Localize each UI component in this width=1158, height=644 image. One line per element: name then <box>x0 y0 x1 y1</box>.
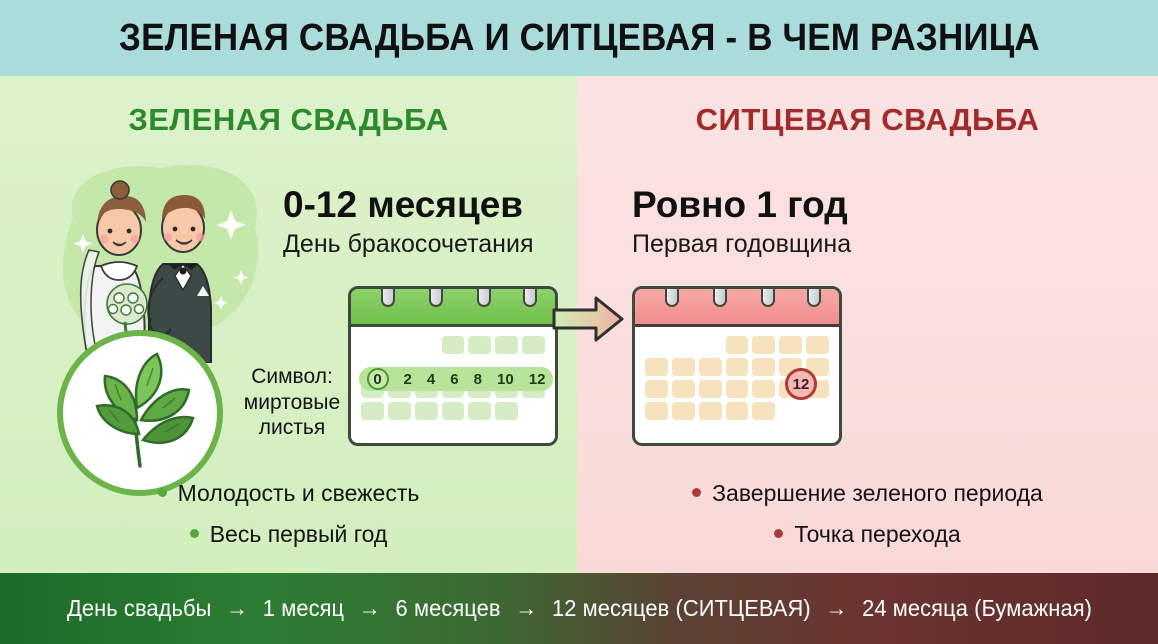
green-calendar: 0 2 4 6 8 10 12 <box>348 286 558 446</box>
bullet-dot-icon <box>774 529 783 538</box>
left-column-title: ЗЕЛЕНАЯ СВАДЬБА <box>0 102 577 138</box>
calendar-grid-green: 0 2 4 6 8 10 12 <box>351 327 555 428</box>
calendar-grid-pink: 12 <box>635 327 839 428</box>
arrow-icon: → <box>515 595 537 621</box>
timeline-step: 6 месяцев <box>395 595 500 621</box>
right-arrow-icon <box>552 294 624 344</box>
timeline-step: 24 месяца (Бумажная) <box>862 595 1092 621</box>
left-symbol-line1: Символ: <box>228 364 356 390</box>
calendar-rings-green <box>351 286 558 307</box>
right-column-title: СИТЦЕВАЯ СВАДЬБА <box>577 102 1158 138</box>
right-headline: Ровно 1 год <box>632 184 851 226</box>
calendar-highlight-row: 0 2 4 6 8 10 12 <box>359 367 553 391</box>
calendar-number: 8 <box>474 371 482 388</box>
myrtle-leaves-icon <box>57 330 223 496</box>
list-item: Завершение зеленого периода <box>577 480 1158 507</box>
right-panel: СИТЦЕВАЯ СВАДЬБА <box>577 76 1158 573</box>
list-item: Точка перехода <box>577 521 1158 548</box>
left-bullet-text: Молодость и свежесть <box>178 480 420 506</box>
bullet-dot-icon <box>692 488 701 497</box>
left-bullet-text: Весь первый год <box>210 521 388 547</box>
calendar-number: 4 <box>427 371 435 388</box>
arrow-icon: → <box>358 595 380 621</box>
calendar-circled-number-green: 0 <box>367 368 389 390</box>
page-header: ЗЕЛЕНАЯ СВАДЬБА И СИТЦЕВАЯ - В ЧЕМ РАЗНИ… <box>0 0 1158 76</box>
body-area: ЗЕЛЕНАЯ СВАДЬБА <box>0 76 1158 573</box>
timeline-step: 12 месяцев (СИТЦЕВАЯ) <box>551 595 810 621</box>
arrow-icon: → <box>226 595 248 621</box>
bullet-dot-icon <box>190 529 199 538</box>
left-symbol-line2: миртовые <box>228 390 356 416</box>
list-item: Весь первый год <box>0 521 577 548</box>
calendar-number: 6 <box>450 371 458 388</box>
left-symbol-line3: листья <box>228 415 356 441</box>
bullet-dot-icon <box>158 488 167 497</box>
calendar-number: 10 <box>497 371 514 388</box>
list-item: Молодость и свежесть <box>0 480 577 507</box>
page-title: ЗЕЛЕНАЯ СВАДЬБА И СИТЦЕВАЯ - В ЧЕМ РАЗНИ… <box>119 17 1040 60</box>
left-symbol-label: Символ: миртовые листья <box>228 364 356 441</box>
left-bullets: Молодость и свежесть Весь первый год <box>0 480 577 562</box>
right-bullet-text: Завершение зеленого периода <box>712 480 1043 506</box>
right-bullet-text: Точка перехода <box>794 521 960 547</box>
calendar-number: 12 <box>529 371 546 388</box>
pink-calendar: 12 <box>632 286 842 446</box>
right-bullets: Завершение зеленого периода Точка перехо… <box>577 480 1158 562</box>
calendar-number: 2 <box>404 371 412 388</box>
timeline-step: День свадьбы <box>66 595 210 621</box>
left-headline-block: 0-12 месяцев День бракосочетания <box>283 184 533 259</box>
arrow-icon: → <box>825 595 847 621</box>
infographic-page: ЗЕЛЕНАЯ СВАДЬБА И СИТЦЕВАЯ - В ЧЕМ РАЗНИ… <box>0 0 1158 644</box>
calendar-rings-pink <box>635 286 842 307</box>
timeline-step: 1 месяц <box>262 595 343 621</box>
left-headline: 0-12 месяцев <box>283 184 533 226</box>
right-headline-block: Ровно 1 год Первая годовщина <box>632 184 851 259</box>
calendar-circled-number-pink: 12 <box>785 368 817 400</box>
left-subhead: День бракосочетания <box>283 230 533 259</box>
left-panel: ЗЕЛЕНАЯ СВАДЬБА <box>0 76 577 573</box>
right-subhead: Первая годовщина <box>632 230 851 259</box>
timeline-text: День свадьбы → 1 месяц → 6 месяцев → 12 … <box>66 595 1091 622</box>
timeline-footer: День свадьбы → 1 месяц → 6 месяцев → 12 … <box>0 573 1158 644</box>
